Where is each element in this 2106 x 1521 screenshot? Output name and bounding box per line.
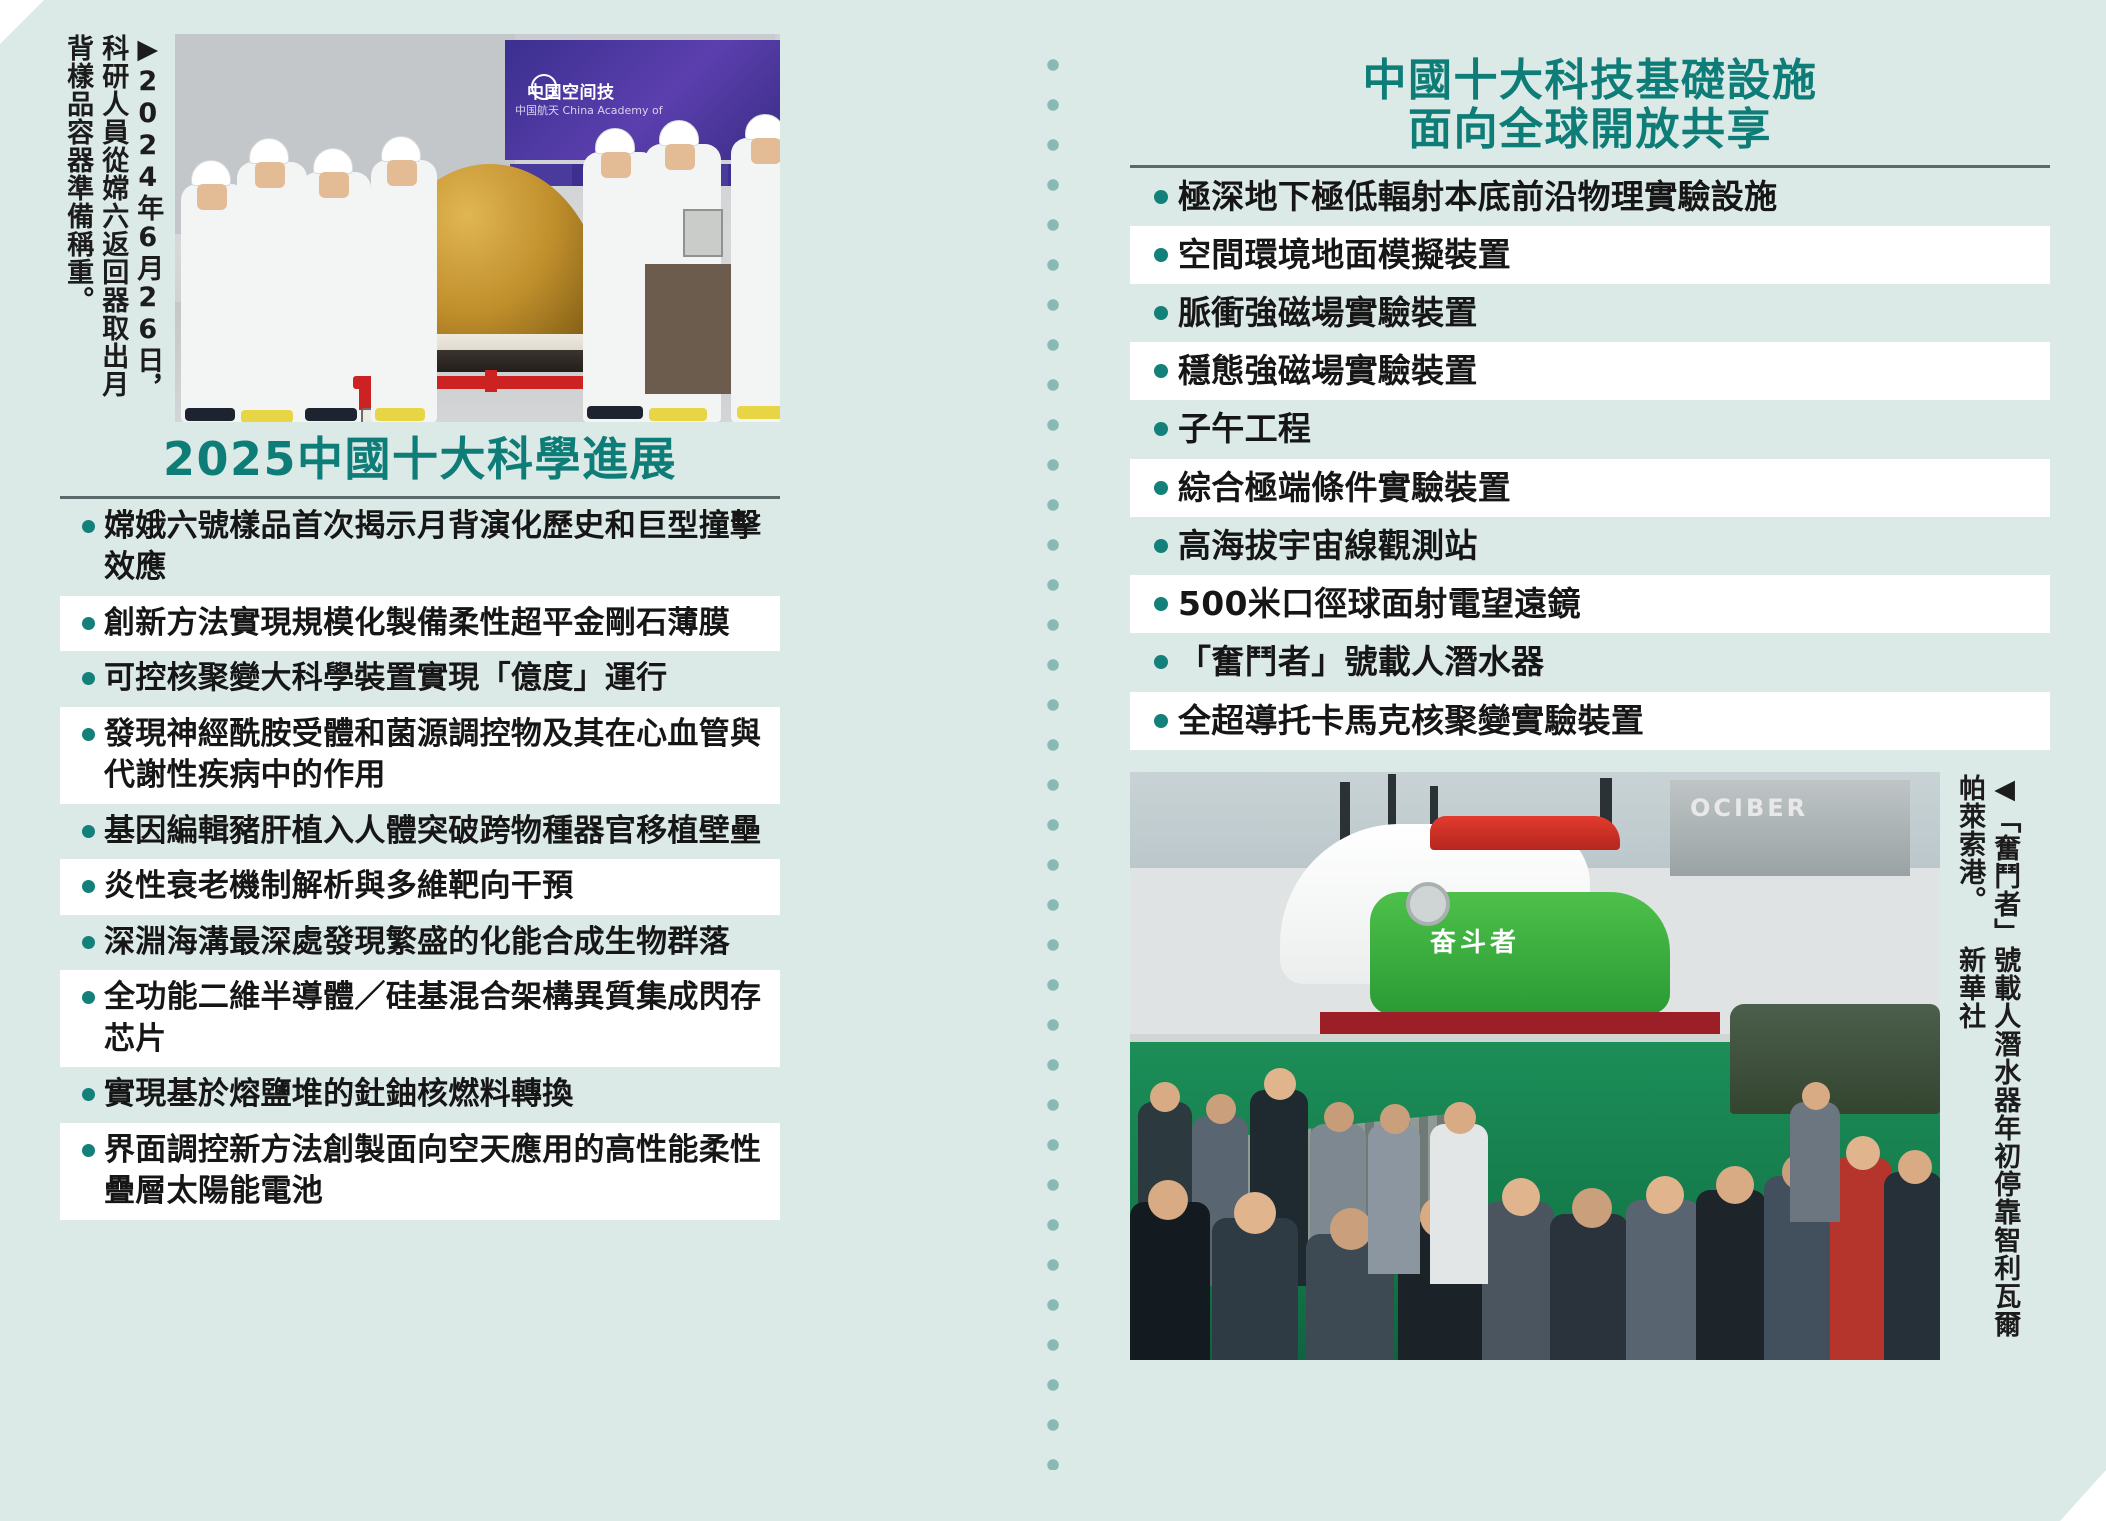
banner-title-text: 中国空间技 — [527, 78, 615, 103]
submersible-photo-caption: ◀「奮鬥者」號載人潛水器年初停靠智利瓦爾帕萊索港。 新華社 — [1952, 774, 2022, 1360]
fendouzhe-submersible-photo: OCIBER 奋斗者 — [1130, 772, 1940, 1360]
list-item[interactable]: 「奮鬥者」號載人潛水器 — [1130, 633, 2050, 691]
list-item[interactable]: 穩態強磁場實驗裝置 — [1130, 342, 2050, 400]
submersible-caption-text: ◀「奮鬥者」號載人潛水器年初停靠智利瓦爾帕萊索港。 — [1954, 774, 2020, 1338]
list-item[interactable]: 綜合極端條件實驗裝置 — [1130, 459, 2050, 517]
infrastructure-list: 極深地下極低輻射本底前沿物理實驗設施 空間環境地面模擬裝置 脈衝強磁場實驗裝置 … — [1130, 168, 2050, 750]
list-item[interactable]: 發現神經酰胺受體和菌源調控物及其在心血管與代謝性疾病中的作用 — [60, 707, 780, 804]
left-photo-block: ▶2024年6月26日，科研人員從嫦六返回器取出月背樣品容器準備稱重。 中国空间… — [60, 34, 780, 424]
list-item[interactable]: 空間環境地面模擬裝置 — [1130, 226, 2050, 284]
list-item[interactable]: 創新方法實現規模化製備柔性超平金剛石薄膜 — [60, 596, 780, 652]
science-advances-list: 嫦娥六號樣品首次揭示月背演化歷史和巨型撞擊效應 創新方法實現規模化製備柔性超平金… — [60, 499, 780, 1220]
right-column: 中國十大科技基礎設施 面向全球開放共享 極深地下極低輻射本底前沿物理實驗設施 空… — [1130, 34, 2050, 1362]
banner-subtitle-text: 中国航天 China Academy of — [515, 102, 663, 118]
infographic-page: ▶2024年6月26日，科研人員從嫦六返回器取出月背樣品容器準備稱重。 中国空间… — [0, 0, 2106, 1521]
right-photo-block: OCIBER 奋斗者 — [1130, 772, 2050, 1362]
list-item[interactable]: 實現基於熔鹽堆的釷鈾核燃料轉換 — [60, 1067, 780, 1123]
list-item[interactable]: 嫦娥六號樣品首次揭示月背演化歷史和巨型撞擊效應 — [60, 499, 780, 596]
crane-label-text: OCIBER — [1690, 794, 1808, 822]
list-item[interactable]: 500米口徑球面射電望遠鏡 — [1130, 575, 2050, 633]
submersible-name-text: 奋斗者 — [1430, 922, 1520, 959]
right-heading-line1: 中國十大科技基礎設施 — [1130, 56, 2050, 105]
list-item[interactable]: 全功能二維半導體／硅基混合架構異質集成閃存芯片 — [60, 970, 780, 1067]
list-item[interactable]: 界面調控新方法創製面向空天應用的高性能柔性疊層太陽能電池 — [60, 1123, 780, 1220]
right-heading: 中國十大科技基礎設施 面向全球開放共享 — [1130, 34, 2050, 163]
list-item[interactable]: 全超導托卡馬克核聚變實驗裝置 — [1130, 692, 2050, 750]
left-column: ▶2024年6月26日，科研人員從嫦六返回器取出月背樣品容器準備稱重。 中国空间… — [60, 34, 780, 1220]
left-heading: 2025中國十大科學進展 — [60, 424, 780, 494]
list-item[interactable]: 炎性衰老機制解析與多維靶向干預 — [60, 859, 780, 915]
capsule-photo-caption: ▶2024年6月26日，科研人員從嫦六返回器取出月背樣品容器準備稱重。 — [60, 34, 165, 422]
list-item[interactable]: 高海拔宇宙線觀測站 — [1130, 517, 2050, 575]
list-item[interactable]: 極深地下極低輻射本底前沿物理實驗設施 — [1130, 168, 2050, 226]
list-item[interactable]: 可控核聚變大科學裝置實現「億度」運行 — [60, 651, 780, 707]
chang-e-capsule-photo: 中国空间技 中国航天 China Academy of — [175, 34, 780, 422]
dotted-divider — [1046, 58, 1060, 1470]
list-item[interactable]: 子午工程 — [1130, 400, 2050, 458]
list-item[interactable]: 脈衝強磁場實驗裝置 — [1130, 284, 2050, 342]
list-item[interactable]: 深淵海溝最深處發現繁盛的化能合成生物群落 — [60, 915, 780, 971]
photo-credit: 新華社 — [1954, 946, 1985, 1030]
right-heading-line2: 面向全球開放共享 — [1130, 105, 2050, 154]
list-item[interactable]: 基因編輯豬肝植入人體突破跨物種器官移植壁壘 — [60, 804, 780, 860]
